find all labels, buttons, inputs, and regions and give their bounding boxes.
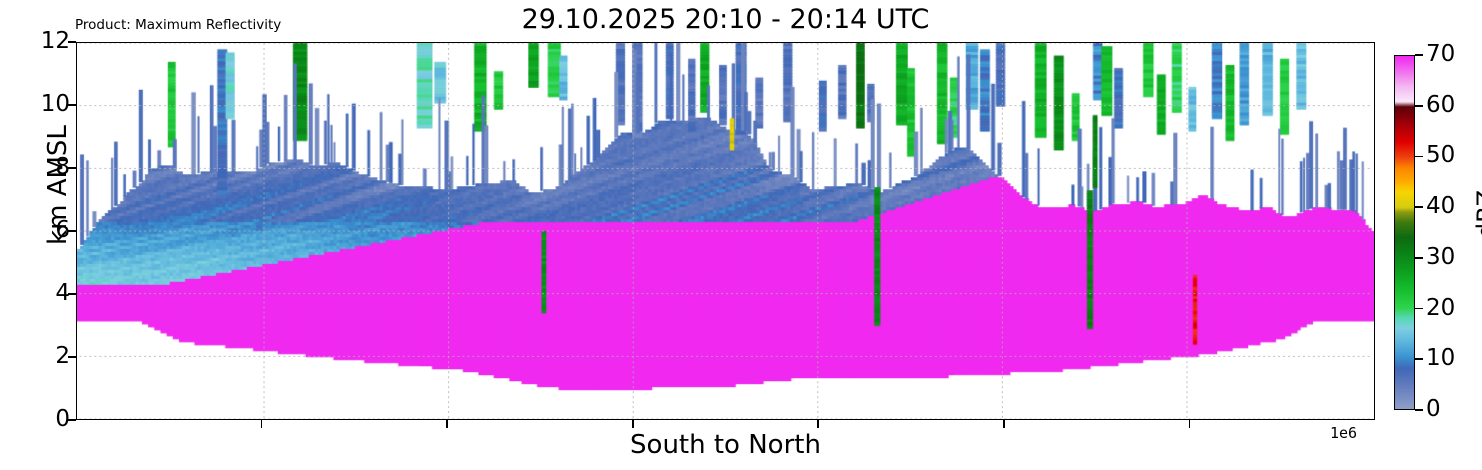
radar-cross-section-figure: Product: Maximum Reflectivity 29.10.2025… bbox=[0, 0, 1482, 470]
colorbar bbox=[1394, 55, 1415, 410]
colorbar-tick-label: 40 bbox=[1426, 195, 1455, 218]
y-axis-label: km AMSL bbox=[43, 55, 73, 315]
colorbar-tick-mark bbox=[1415, 358, 1423, 360]
x-tick-mark bbox=[446, 420, 448, 428]
x-tick-mark bbox=[1003, 420, 1005, 428]
x-axis-label: South to North bbox=[76, 430, 1375, 460]
colorbar-tick-mark bbox=[1415, 308, 1423, 310]
colorbar-tick-label: 20 bbox=[1426, 297, 1455, 320]
x-axis-offset-text: 1e6 bbox=[1330, 424, 1357, 442]
colorbar-tick-mark bbox=[1415, 54, 1423, 56]
plot-area bbox=[76, 42, 1375, 420]
x-tick-mark bbox=[1189, 420, 1191, 428]
colorbar-tick-label: 10 bbox=[1426, 347, 1455, 370]
y-tick-label: 12 bbox=[41, 30, 70, 53]
colorbar-tick-mark bbox=[1415, 409, 1423, 411]
colorbar-tick-label: 0 bbox=[1426, 398, 1441, 421]
colorbar-tick-mark bbox=[1415, 206, 1423, 208]
colorbar-label: dBZ bbox=[1472, 114, 1482, 314]
colorbar-tick-label: 30 bbox=[1426, 246, 1455, 269]
x-tick-mark bbox=[817, 420, 819, 428]
x-tick-mark bbox=[261, 420, 263, 428]
y-tick-label: 2 bbox=[55, 345, 70, 368]
reflectivity-heatmap bbox=[77, 43, 1374, 419]
colorbar-tick-mark bbox=[1415, 257, 1423, 259]
colorbar-gradient bbox=[1395, 56, 1414, 409]
colorbar-tick-label: 70 bbox=[1426, 43, 1455, 66]
colorbar-tick-mark bbox=[1415, 105, 1423, 107]
colorbar-tick-mark bbox=[1415, 156, 1423, 158]
colorbar-tick-label: 60 bbox=[1426, 94, 1455, 117]
chart-title: 29.10.2025 20:10 - 20:14 UTC bbox=[76, 4, 1375, 36]
colorbar-tick-label: 50 bbox=[1426, 144, 1455, 167]
x-tick-mark bbox=[632, 420, 634, 428]
y-tick-label: 0 bbox=[55, 408, 70, 431]
